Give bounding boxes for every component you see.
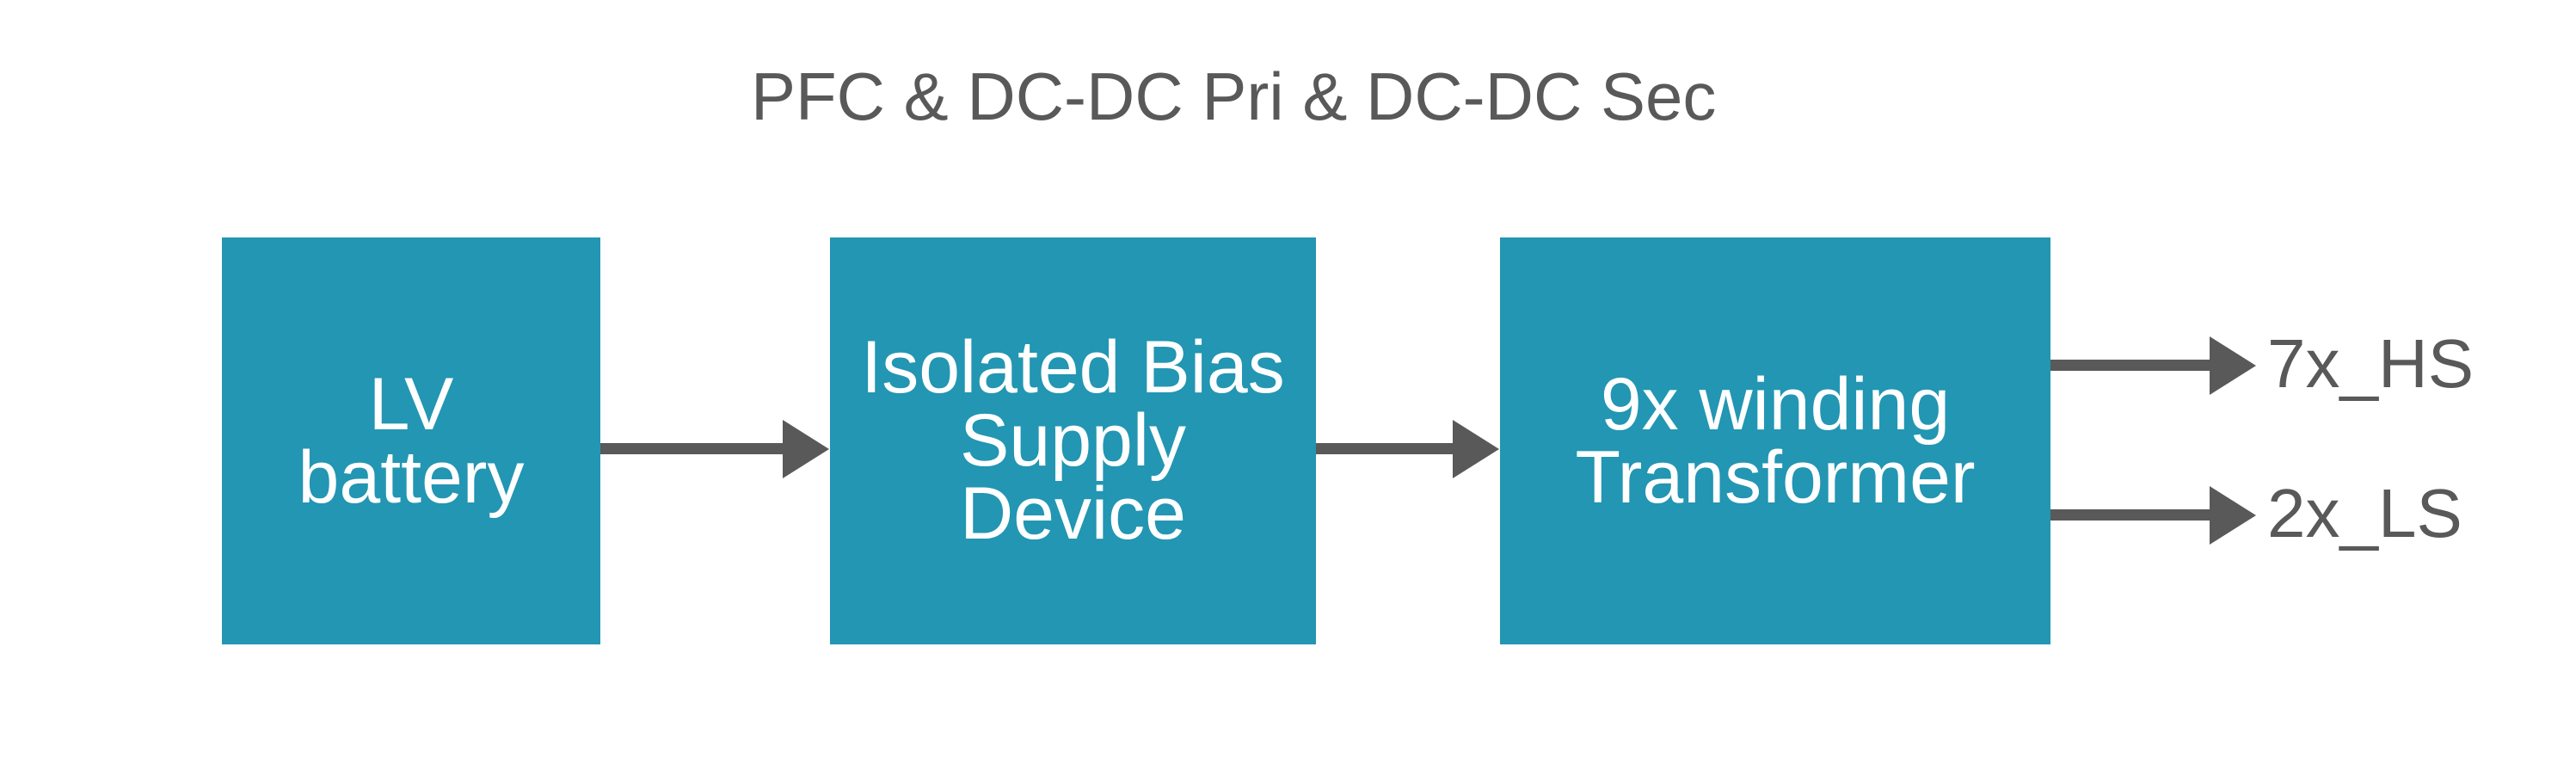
diagram-title: PFC & DC-DC Pri & DC-DC Sec [751,53,1716,139]
arrow-head [2210,486,2256,545]
block-lv-battery[interactable]: LV battery [222,237,600,644]
arrow-head [1453,420,1499,478]
output-label-ls: 2x_LS [2267,479,2462,548]
connector-line [600,443,784,454]
block-isolated-bias-supply-device[interactable]: Isolated Bias Supply Device [830,237,1316,644]
block-lv-battery-label: LV battery [222,368,600,514]
block-isolated-bias-supply-device-label: Isolated Bias Supply Device [830,331,1316,551]
connector-line [1316,443,1454,454]
block-9x-winding-transformer-label: 9x winding Transformer [1500,368,2050,514]
arrow-head [2210,336,2256,395]
connector-line [2050,509,2211,521]
block-diagram-canvas: PFC & DC-DC Pri & DC-DC Sec LV battery I… [0,0,2576,764]
output-label-hs: 7x_HS [2267,330,2474,398]
block-9x-winding-transformer[interactable]: 9x winding Transformer [1500,237,2050,644]
arrow-head [783,420,829,478]
connector-line [2050,360,2211,371]
